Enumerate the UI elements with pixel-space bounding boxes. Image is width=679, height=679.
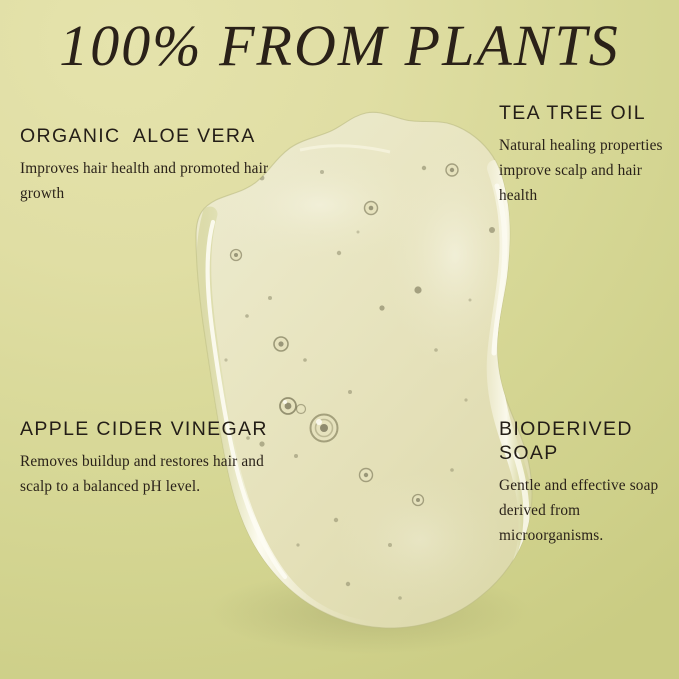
callout-tea-tree-oil: TEA TREE OIL Natural healing properties …	[499, 102, 674, 208]
callout-organic-aloe-vera: ORGANIC ALOE VERA Improves hair health a…	[20, 125, 280, 206]
callout-heading-vinegar: APPLE CIDER VINEGAR	[20, 418, 270, 442]
gel-sheen-lower	[335, 470, 505, 610]
gel-bubbles	[224, 164, 495, 600]
callout-body-vinegar: Removes buildup and restores hair and sc…	[20, 449, 270, 499]
gel-highlight-left-core	[208, 222, 285, 577]
callout-body-teatree: Natural healing properties improve scalp…	[499, 133, 674, 208]
callout-bioderived-soap: BIODERIVED SOAP Gentle and effective soa…	[499, 418, 679, 548]
gel-sheen-edge-top	[300, 146, 390, 152]
gel-highlight-right	[459, 168, 527, 626]
poster-canvas: 100% FROM PLANTS ORGANIC ALOE VERA Impro…	[0, 0, 679, 679]
callout-body-soap: Gentle and effective soap derived from m…	[499, 473, 679, 548]
callout-heading-aloe: ORGANIC ALOE VERA	[20, 125, 280, 149]
callout-heading-soap: BIODERIVED SOAP	[499, 418, 679, 466]
page-title: 100% FROM PLANTS	[0, 16, 679, 77]
callout-apple-cider-vinegar: APPLE CIDER VINEGAR Removes buildup and …	[20, 418, 270, 499]
gel-highlight-right-core	[494, 186, 505, 353]
callout-body-aloe: Improves hair health and promoted hair g…	[20, 156, 280, 206]
callout-heading-teatree: TEA TREE OIL	[499, 102, 674, 126]
gel-blob-shadow	[210, 570, 530, 654]
